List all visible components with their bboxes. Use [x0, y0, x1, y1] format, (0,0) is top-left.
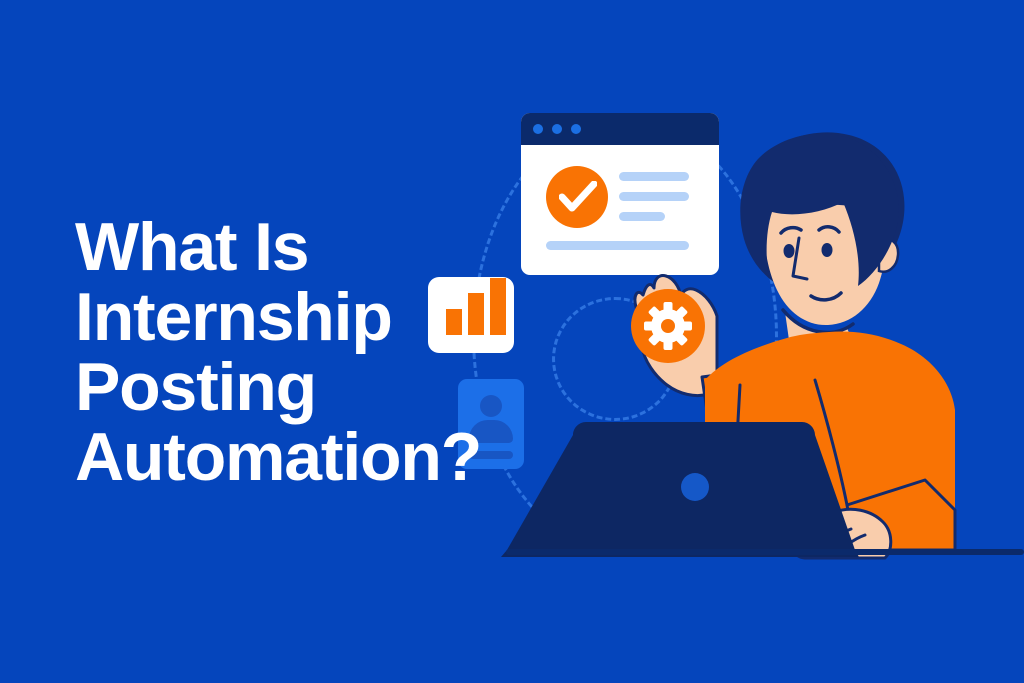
laptop-logo-icon	[681, 473, 709, 501]
headline-line-1: What Is	[75, 212, 505, 282]
laptop	[501, 422, 859, 557]
eye-left	[784, 244, 795, 258]
headline-line-3: Posting	[75, 352, 505, 422]
headline-line-2: Internship	[75, 282, 505, 352]
gear-coin[interactable]	[631, 289, 705, 363]
gear-icon	[644, 302, 692, 350]
headline-line-4: Automation?	[75, 422, 505, 492]
person-at-laptop-illustration	[455, 80, 1024, 580]
eye-right	[822, 243, 833, 257]
page-title: What Is Internship Posting Automation?	[75, 212, 505, 492]
poster-canvas: What Is Internship Posting Automation?	[0, 0, 1024, 683]
desk-surface	[506, 549, 1024, 555]
